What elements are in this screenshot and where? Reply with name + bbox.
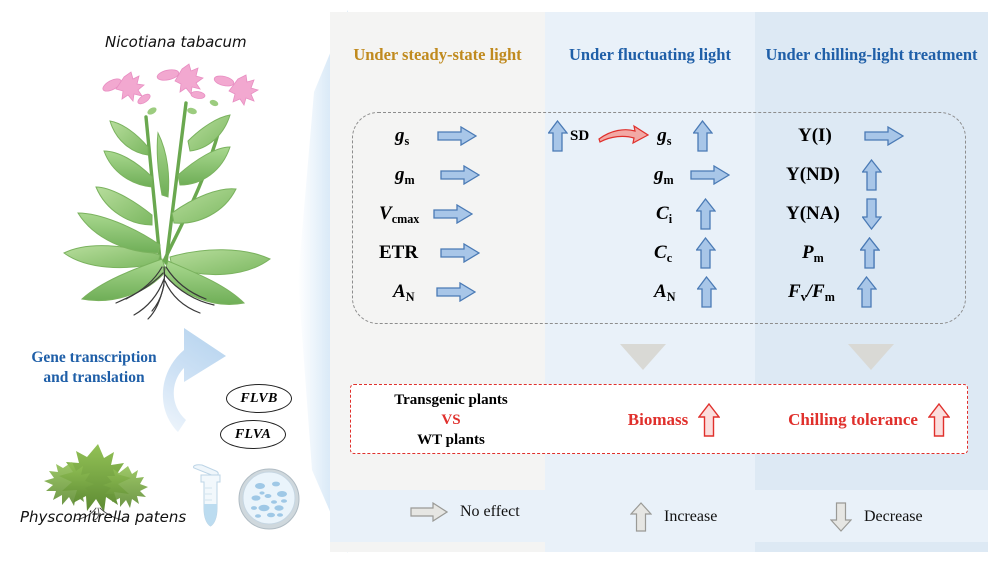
result-chilling-tolerance: Chilling tolerance	[769, 385, 969, 455]
species-label-tabacum: Nicotiana tabacum	[105, 33, 247, 51]
legend-label-no-effect: No effect	[460, 503, 520, 521]
no-effect-arrow-icon	[436, 282, 476, 302]
parameter-column-fluctuating: SD gs gm	[546, 113, 756, 325]
param-row-vcmax: Vcmax	[379, 197, 473, 231]
down-arrow-icon	[830, 502, 852, 532]
gene-process-line1: Gene transcription	[31, 349, 156, 366]
right-arrow-icon	[410, 502, 448, 522]
flow-triangle-fluctuating	[620, 344, 666, 370]
up-arrow-icon	[693, 120, 713, 152]
legend-label-decrease: Decrease	[864, 508, 923, 526]
param-row-gm: gm	[395, 158, 480, 192]
gene-process-label: Gene transcription and translation	[14, 348, 174, 388]
param-row-pm: Pm	[802, 236, 880, 270]
param-label-etr: ETR	[379, 242, 418, 264]
no-effect-arrow-icon	[864, 126, 904, 146]
figure-root: Nicotiana tabacum	[0, 0, 1000, 563]
tobacco-plant-illustration	[48, 55, 293, 330]
param-label-an: AN	[393, 281, 414, 303]
up-arrow-icon	[696, 237, 716, 269]
no-effect-arrow-icon	[433, 204, 473, 224]
param-row-yi: Y(I)	[798, 119, 904, 153]
param-label-gs: gs	[657, 125, 671, 147]
red-causal-arrow-icon	[597, 124, 649, 148]
up-arrow-icon	[857, 276, 877, 308]
param-row-yna: Y(NA)	[786, 197, 882, 231]
param-row-etr: ETR	[379, 236, 480, 270]
gene-oval-flva: FLVA	[220, 420, 286, 449]
up-arrow-icon	[630, 502, 652, 532]
red-up-arrow-icon	[928, 403, 950, 437]
species-label-patens: Physcomitrella patens	[20, 508, 186, 526]
legend-label-increase: Increase	[664, 508, 717, 526]
comparison-vs: VS	[441, 410, 460, 430]
param-label-yna: Y(NA)	[786, 203, 840, 225]
down-arrow-icon	[862, 198, 882, 230]
no-effect-arrow-icon	[440, 165, 480, 185]
right-panel: Under steady-state light Under fluctuati…	[330, 12, 988, 552]
param-label-pm: Pm	[802, 242, 824, 264]
column-header-fluctuating: Under fluctuating light	[545, 44, 755, 65]
param-label-cc: Cc	[654, 242, 672, 264]
param-row-fvfm: Fv/Fm	[788, 275, 877, 309]
up-arrow-icon	[548, 120, 568, 152]
no-effect-arrow-icon	[690, 165, 730, 185]
param-row-gs: gs	[395, 119, 477, 153]
up-arrow-icon	[696, 198, 716, 230]
comparison-line1: Transgenic plants	[394, 390, 508, 410]
up-arrow-icon	[697, 276, 717, 308]
legend-item-decrease: Decrease	[830, 502, 923, 532]
param-label-gm: gm	[654, 164, 674, 186]
legend-item-increase: Increase	[630, 502, 717, 532]
legend-item-no-effect: No effect	[410, 502, 520, 522]
param-label-an: AN	[654, 281, 675, 303]
gene-oval-flvb: FLVB	[226, 384, 292, 413]
left-panel: Nicotiana tabacum	[0, 0, 330, 563]
red-up-arrow-icon	[698, 403, 720, 437]
result-biomass: Biomass	[579, 385, 769, 455]
results-box: Transgenic plants VS WT plants Biomass C…	[350, 384, 968, 454]
gene-process-line2: and translation	[43, 369, 144, 386]
microcentrifuge-tube-icon	[190, 462, 228, 530]
chilling-tolerance-label: Chilling tolerance	[788, 410, 918, 430]
param-row-gm: gm	[654, 158, 730, 192]
param-label-gm: gm	[395, 164, 415, 186]
up-arrow-icon	[862, 159, 882, 191]
no-effect-arrow-icon	[440, 243, 480, 263]
param-label-vcmax: Vcmax	[379, 203, 419, 225]
param-label-gs: gs	[395, 125, 409, 147]
flow-triangle-chilling	[848, 344, 894, 370]
parameter-box: gs gm Vcmax	[352, 112, 966, 324]
petri-dish-icon	[238, 468, 300, 530]
param-label-fvfm: Fv/Fm	[788, 281, 835, 303]
param-label-yi: Y(I)	[798, 125, 832, 147]
param-row-an: AN	[393, 275, 476, 309]
param-row-an: AN	[654, 275, 717, 309]
param-label-ynd: Y(ND)	[786, 164, 840, 186]
column-header-chilling: Under chilling-light treatment	[755, 44, 988, 65]
param-row-cc: Cc	[654, 236, 716, 270]
param-row-ci: Ci	[656, 197, 716, 231]
parameter-column-chilling: Y(I) Y(ND) Y(NA)	[756, 113, 967, 325]
param-row-ynd: Y(ND)	[786, 158, 882, 192]
biomass-label: Biomass	[628, 410, 688, 430]
up-arrow-icon	[860, 237, 880, 269]
no-effect-arrow-icon	[437, 126, 477, 146]
gene-flvb-label: FLVB	[240, 391, 277, 407]
comparison-line2: WT plants	[417, 430, 485, 450]
result-comparison: Transgenic plants VS WT plants	[351, 385, 551, 455]
column-header-steady: Under steady-state light	[330, 44, 545, 65]
sd-label: SD	[570, 128, 589, 145]
param-row-sd-gs: SD gs	[548, 119, 713, 153]
gene-flva-label: FLVA	[235, 427, 271, 443]
param-label-ci: Ci	[656, 203, 672, 225]
parameter-column-steady: gs gm Vcmax	[353, 113, 546, 325]
legend: No effect Increase Decrease	[330, 490, 988, 542]
